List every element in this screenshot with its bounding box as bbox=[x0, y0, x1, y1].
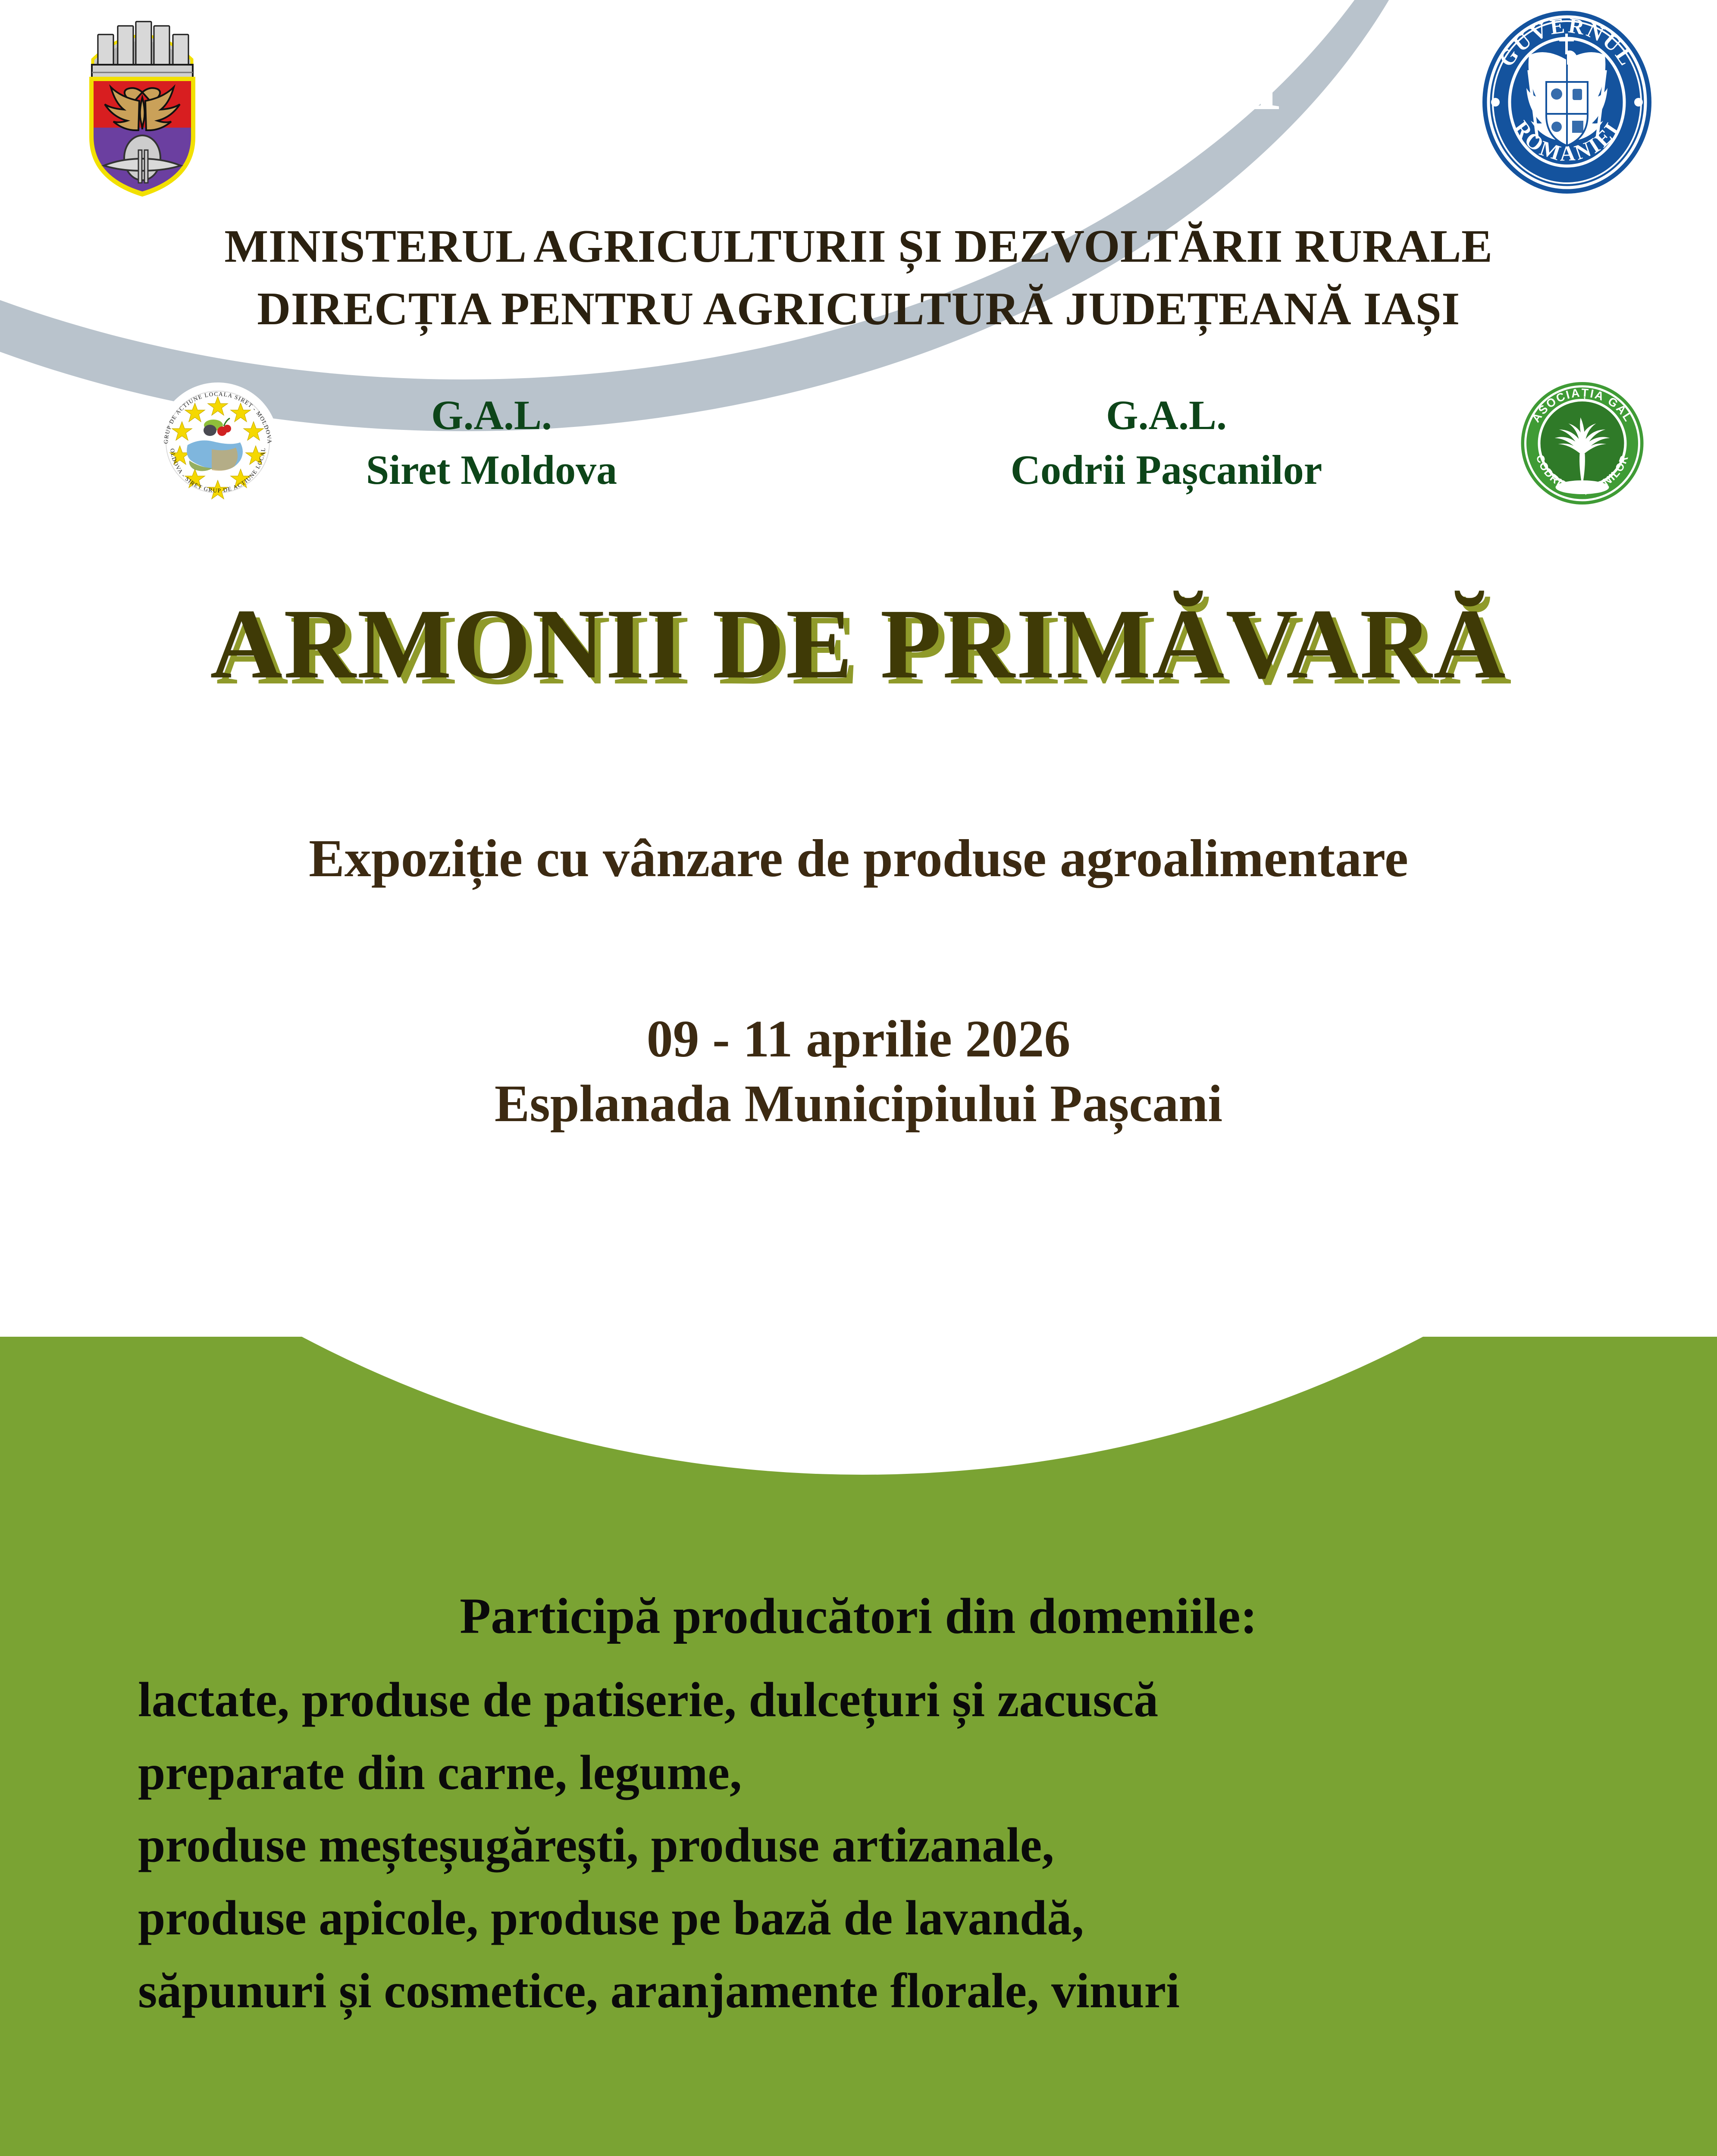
gal-codrii-pascanilor-label: G.A.L. Codrii Pașcanilor bbox=[914, 388, 1419, 497]
event-date: 09 - 11 aprilie 2026 bbox=[0, 1009, 1717, 1069]
page-title: MUNICIPIUL PAȘCANI bbox=[0, 39, 1717, 128]
gal-left-line-1: G.A.L. bbox=[298, 388, 686, 443]
ministry-line-1: MINISTERUL AGRICULTURII ȘI DEZVOLTĂRII R… bbox=[0, 216, 1717, 278]
list-item: produse apicole, produse pe bază de lava… bbox=[138, 1882, 1717, 1955]
participants-heading: Participă producători din domeniile: bbox=[0, 1587, 1717, 1645]
guvernul-romaniei-seal-icon: GUVERNUL ROMÂNIEI bbox=[1481, 9, 1653, 195]
event-location: Esplanada Municipiului Pașcani bbox=[0, 1074, 1717, 1134]
gal-left-line-2: Siret Moldova bbox=[298, 443, 686, 498]
gal-siret-moldova-logo-icon: * GRUP DE ACTIUNE LOCALA SIRET - MOLDOVA… bbox=[153, 380, 282, 503]
ministry-line-2: DIRECȚIA PENTRU AGRICULTURĂ JUDEȚEANĂ IA… bbox=[0, 278, 1717, 341]
poster-header: MUNICIPIUL PAȘCANI GUVERNUL ROMÂNIEI bbox=[0, 0, 1717, 203]
event-title: ARMONII DE PRIMĂVARĂ bbox=[0, 586, 1717, 702]
gal-right-line-2: Codrii Pașcanilor bbox=[914, 443, 1419, 498]
participants-list: lactate, produse de patiserie, dulcețuri… bbox=[0, 1664, 1717, 2028]
list-item: preparate din carne, legume, bbox=[138, 1736, 1717, 1809]
list-item: săpunuri și cosmetice, aranjamente flora… bbox=[138, 1955, 1717, 2028]
list-item: produse meșteșugărești, produse artizana… bbox=[138, 1809, 1717, 1882]
event-subtitle: Expoziție cu vânzare de produse agroalim… bbox=[0, 828, 1717, 889]
gal-partners-row: * GRUP DE ACTIUNE LOCALA SIRET - MOLDOVA… bbox=[0, 375, 1717, 509]
gal-right-line-1: G.A.L. bbox=[914, 388, 1419, 443]
poster-root: MUNICIPIUL PAȘCANI GUVERNUL ROMÂNIEI bbox=[0, 0, 1717, 2156]
list-item: lactate, produse de patiserie, dulcețuri… bbox=[138, 1664, 1717, 1736]
gal-siret-moldova-label: G.A.L. Siret Moldova bbox=[298, 388, 686, 497]
participants-block: Participă producători din domeniile: lac… bbox=[0, 1587, 1717, 2028]
gal-codrii-pascanilor-logo-icon: ASOCIAȚIA GAL CODRII PAȘCANILOR bbox=[1516, 379, 1648, 508]
ministry-block: MINISTERUL AGRICULTURII ȘI DEZVOLTĂRII R… bbox=[0, 216, 1717, 340]
